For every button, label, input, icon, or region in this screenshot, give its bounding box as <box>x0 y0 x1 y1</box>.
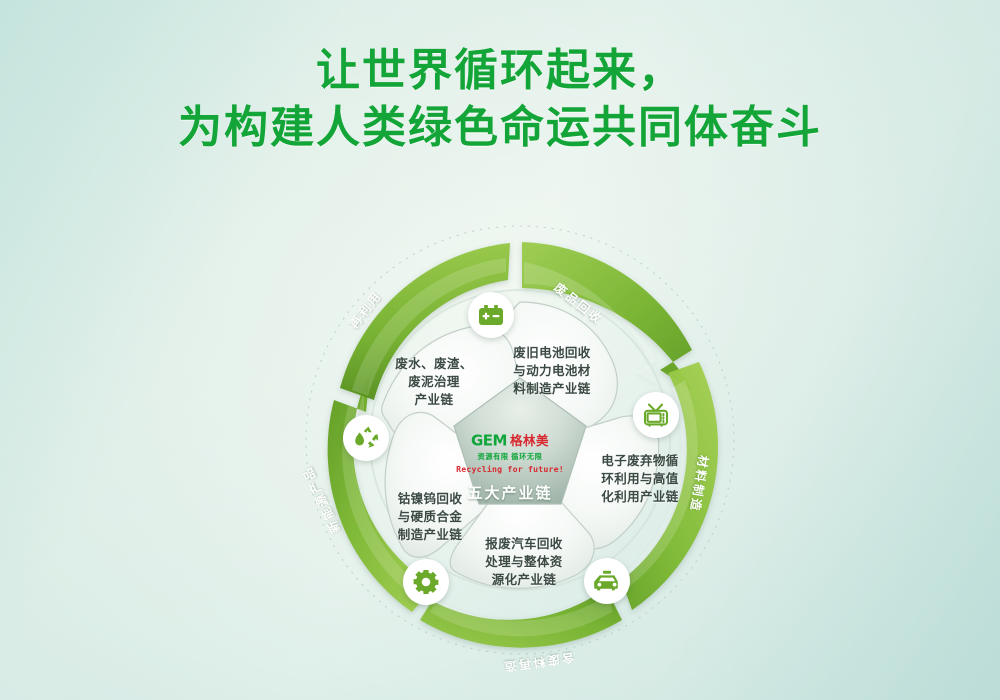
gem-brand-cn: 格林美 <box>510 434 549 448</box>
gem-logo: GEM格林美 资源有限 循环无限 Recycling for future! <box>443 432 577 474</box>
gem-slogan-en: Recycling for future! <box>443 464 577 474</box>
gem-logo-row: GEM格林美 <box>471 433 549 449</box>
center-hub: GEM格林美 资源有限 循环无限 Recycling for future! 五… <box>443 415 577 533</box>
car-icon <box>593 570 621 592</box>
tv-icon <box>643 403 669 427</box>
gem-wordmark: GEM <box>471 431 507 449</box>
icon-bubble-gear <box>403 559 449 605</box>
icon-bubble-car <box>584 558 630 604</box>
hub-title: 五大产业链 <box>443 482 577 503</box>
page-title-line-1: 让世界循环起来， <box>316 46 684 95</box>
icon-bubble-battery <box>468 292 514 338</box>
gem-slogan-cn: 资源有限 循环无限 <box>443 452 577 462</box>
page-title: 让世界循环起来， 为构建人类绿色命运共同体奋斗 <box>0 42 1000 156</box>
icon-bubble-water-recycle <box>343 415 389 461</box>
icon-bubble-tv <box>633 392 679 438</box>
water-recycle-icon <box>352 425 380 451</box>
battery-icon <box>478 304 504 326</box>
gear-icon <box>413 569 439 595</box>
infographic-canvas: 让世界循环起来， 为构建人类绿色命运共同体奋斗 <box>0 0 1000 700</box>
page-title-line-2: 为构建人类绿色命运共同体奋斗 <box>0 99 1000 156</box>
